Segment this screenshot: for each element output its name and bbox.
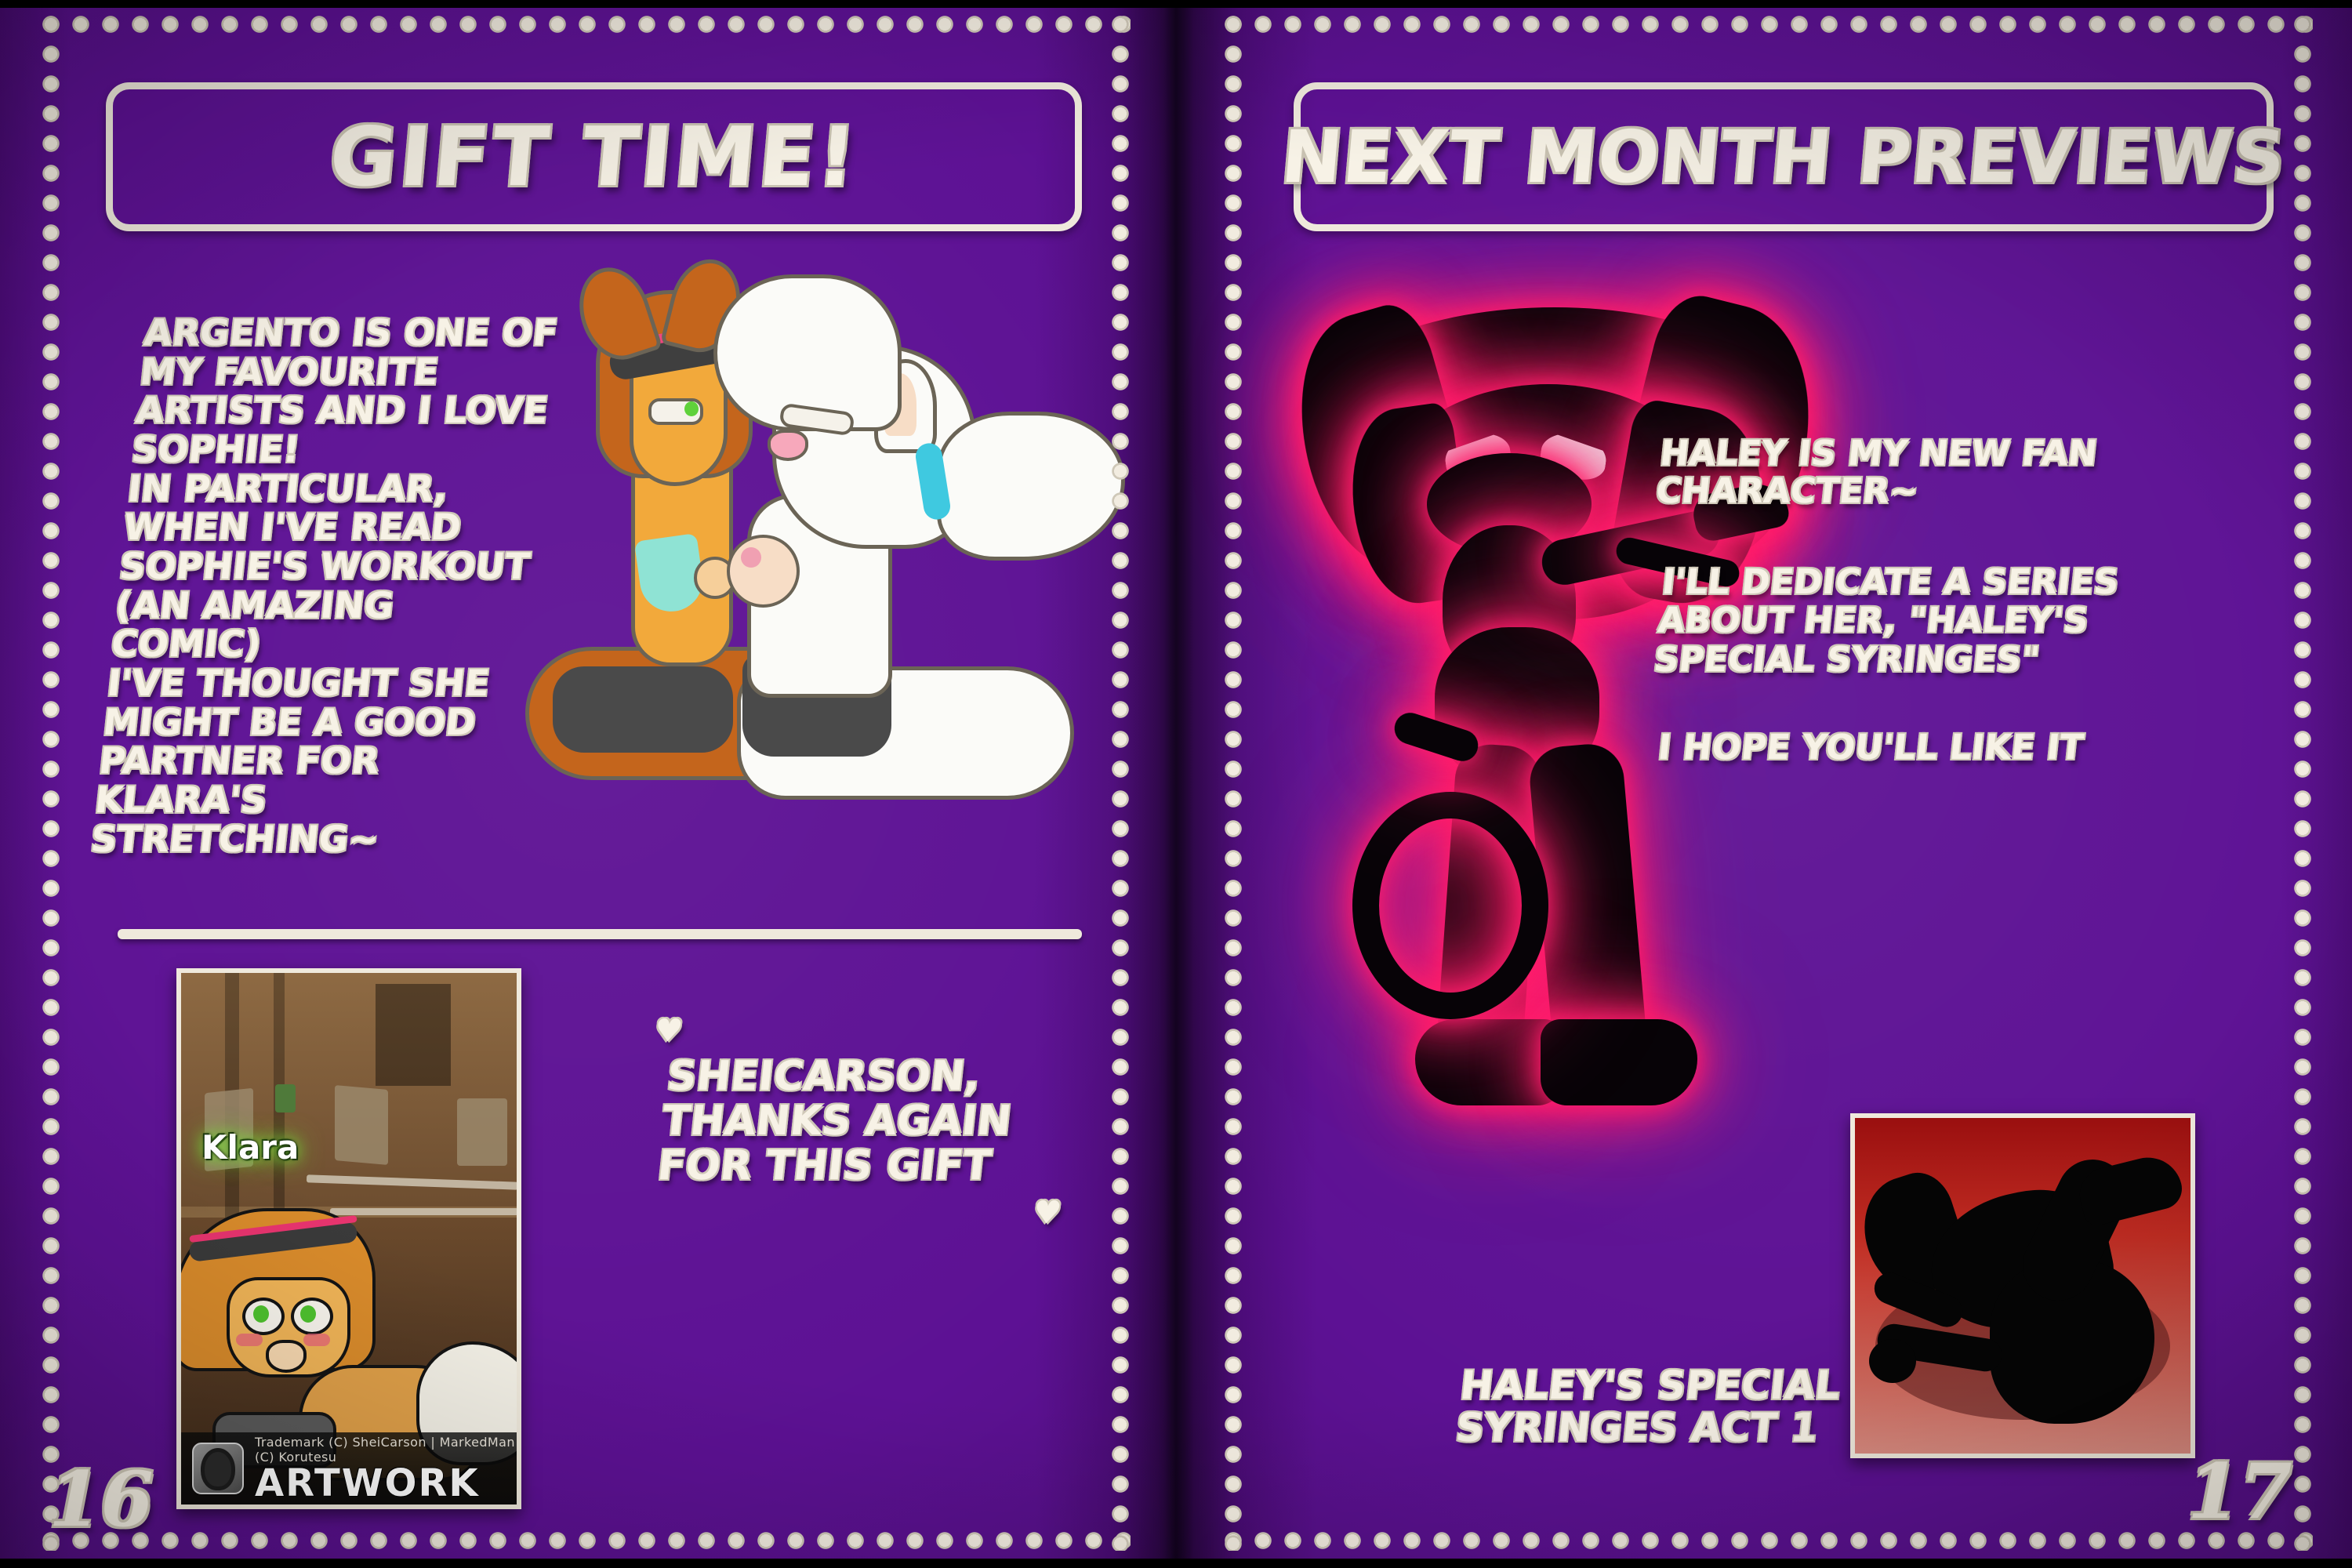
section-divider bbox=[118, 929, 1082, 939]
trademark-text: Trademark (C) SheiCarson | MarkedMan (C)… bbox=[255, 1435, 515, 1465]
sophie-chest-detail bbox=[741, 547, 761, 568]
klara-thumb-muzzle bbox=[266, 1340, 307, 1373]
dotted-border-left-edge bbox=[41, 14, 61, 1551]
klara-thumb-blush-right bbox=[303, 1334, 330, 1346]
klara-pupil bbox=[684, 401, 699, 416]
klara-name-tag: Klara bbox=[201, 1128, 299, 1167]
klara-gym-artwork[interactable]: Klara Trademark (C) SheiCarson | MarkedM… bbox=[176, 968, 521, 1509]
haley-intro-text: HALEY IS MY NEW FAN CHARACTER~ bbox=[1654, 435, 2148, 511]
gym-window bbox=[376, 984, 451, 1086]
gym-machine-3 bbox=[457, 1098, 507, 1166]
dotted-border-top-left bbox=[41, 14, 1131, 34]
next-month-previews-banner: NEXT MONTH PREVIEWS bbox=[1294, 82, 2274, 231]
haley-tail bbox=[1352, 792, 1548, 1019]
left-body-text: ARGENTO IS ONE OF MY FAVOURITE ARTISTS A… bbox=[89, 314, 585, 858]
dotted-border-top-right bbox=[1223, 14, 2313, 34]
klara-thumb-blush-left bbox=[236, 1334, 263, 1346]
klara-thumb-pupil-right bbox=[300, 1305, 316, 1323]
heart-icon-top: ♥ bbox=[653, 1015, 684, 1047]
gift-thanks-caption: SHEICARSON, THANKS AGAIN FOR THIS GIFT bbox=[655, 1054, 1109, 1189]
gym-plant bbox=[275, 1084, 296, 1112]
haley-boot-right bbox=[1541, 1019, 1697, 1105]
gift-time-banner: GIFT TIME! bbox=[106, 82, 1082, 231]
preview-hand bbox=[1869, 1339, 1916, 1383]
sophie-ponytail bbox=[937, 412, 1125, 561]
left-page-title: GIFT TIME! bbox=[325, 109, 862, 205]
artwork-footer-bar: Trademark (C) SheiCarson | MarkedMan (C)… bbox=[181, 1432, 517, 1504]
heart-icon-bottom: ♥ bbox=[1032, 1197, 1063, 1229]
scan-bar-top bbox=[0, 0, 2352, 8]
dotted-border-right-edge bbox=[2292, 14, 2313, 1551]
sophie-muzzle bbox=[768, 430, 808, 461]
haley-act1-preview[interactable] bbox=[1850, 1113, 2195, 1458]
haley-hope-text: I HOPE YOU'LL LIKE IT bbox=[1656, 729, 2146, 767]
scan-bar-bottom bbox=[0, 1559, 2352, 1568]
left-page: GIFT TIME! ARGENTO IS ONE OF MY FAVOURIT… bbox=[0, 0, 1176, 1568]
comic-page-spread: GIFT TIME! ARGENTO IS ONE OF MY FAVOURIT… bbox=[0, 0, 2352, 1568]
dotted-border-bottom-right bbox=[1223, 1530, 2313, 1551]
gym-rail-2 bbox=[330, 1208, 518, 1215]
haley-series-text: I'LL DEDICATE A SERIES ABOUT HER, "HALEY… bbox=[1652, 563, 2151, 679]
gym-machine-2 bbox=[335, 1085, 388, 1165]
klara-shorts bbox=[553, 666, 733, 753]
klara-thumb-pupil-left bbox=[253, 1305, 269, 1323]
artist-avatar bbox=[192, 1443, 244, 1494]
sophie-chest bbox=[727, 535, 800, 608]
dotted-border-bottom-left bbox=[41, 1530, 1131, 1551]
right-page-title: NEXT MONTH PREVIEWS bbox=[1278, 115, 2289, 199]
page-number-left: 16 bbox=[49, 1455, 154, 1544]
artwork-watermark: ARTWORK bbox=[255, 1461, 480, 1505]
page-number-right: 17 bbox=[2187, 1447, 2292, 1536]
dotted-border-left-edge-right-page bbox=[1223, 14, 1243, 1551]
